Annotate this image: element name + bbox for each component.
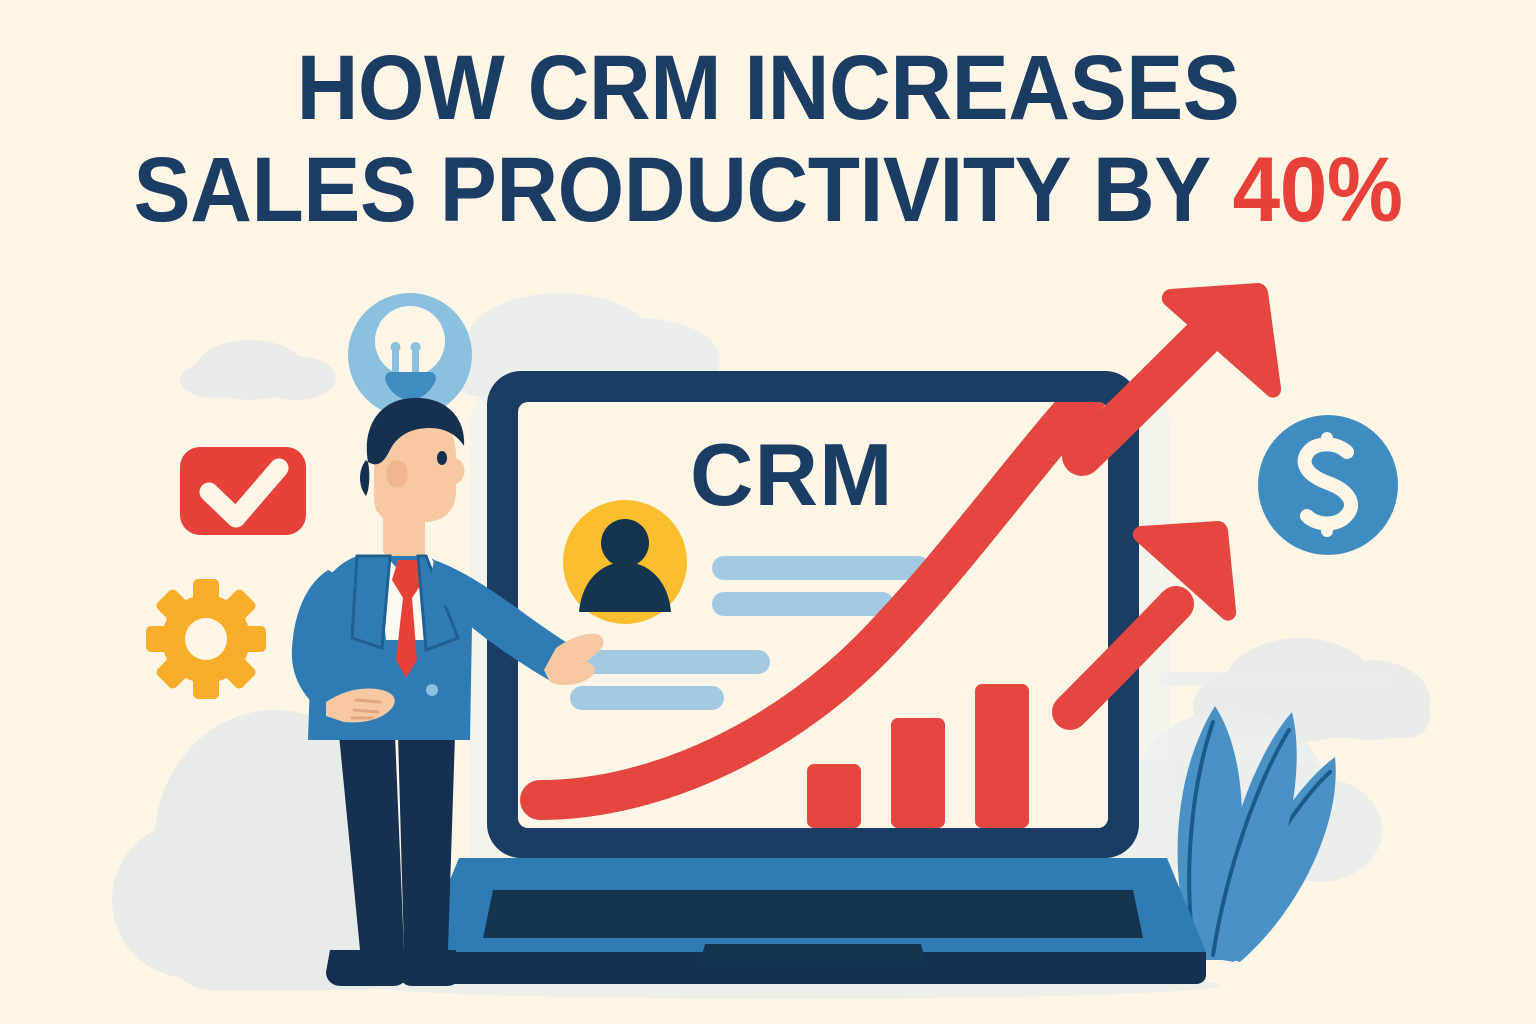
figure-shoe-left [326, 950, 408, 986]
text-line-4 [570, 686, 724, 710]
chart-bar-1 [807, 764, 861, 828]
figure-leg-right [398, 735, 455, 950]
text-line-3 [570, 650, 770, 674]
chart-bar-2 [891, 718, 945, 828]
figure-jacket-button [426, 684, 438, 696]
check-badge-icon[interactable] [180, 447, 306, 535]
keyboard-area[interactable] [483, 890, 1143, 938]
user-avatar-icon[interactable] [563, 500, 687, 624]
text-line-2 [712, 592, 894, 616]
dollar-coin-icon[interactable] [1258, 415, 1398, 555]
laptop-base [420, 858, 1206, 984]
gear-icon[interactable] [146, 579, 266, 699]
trackpad[interactable] [699, 944, 927, 966]
figure-shoe-right [400, 950, 460, 986]
illustration-artboard [0, 0, 1536, 1024]
text-line-1 [712, 556, 930, 580]
decor-stripe [1160, 672, 1390, 686]
poster-canvas: HOW CRM INCREASES SALES PRODUCTIVITY BY … [0, 0, 1536, 1024]
chart-bar-3 [975, 684, 1029, 828]
figure-ear [386, 460, 408, 488]
figure-eye [437, 451, 447, 465]
